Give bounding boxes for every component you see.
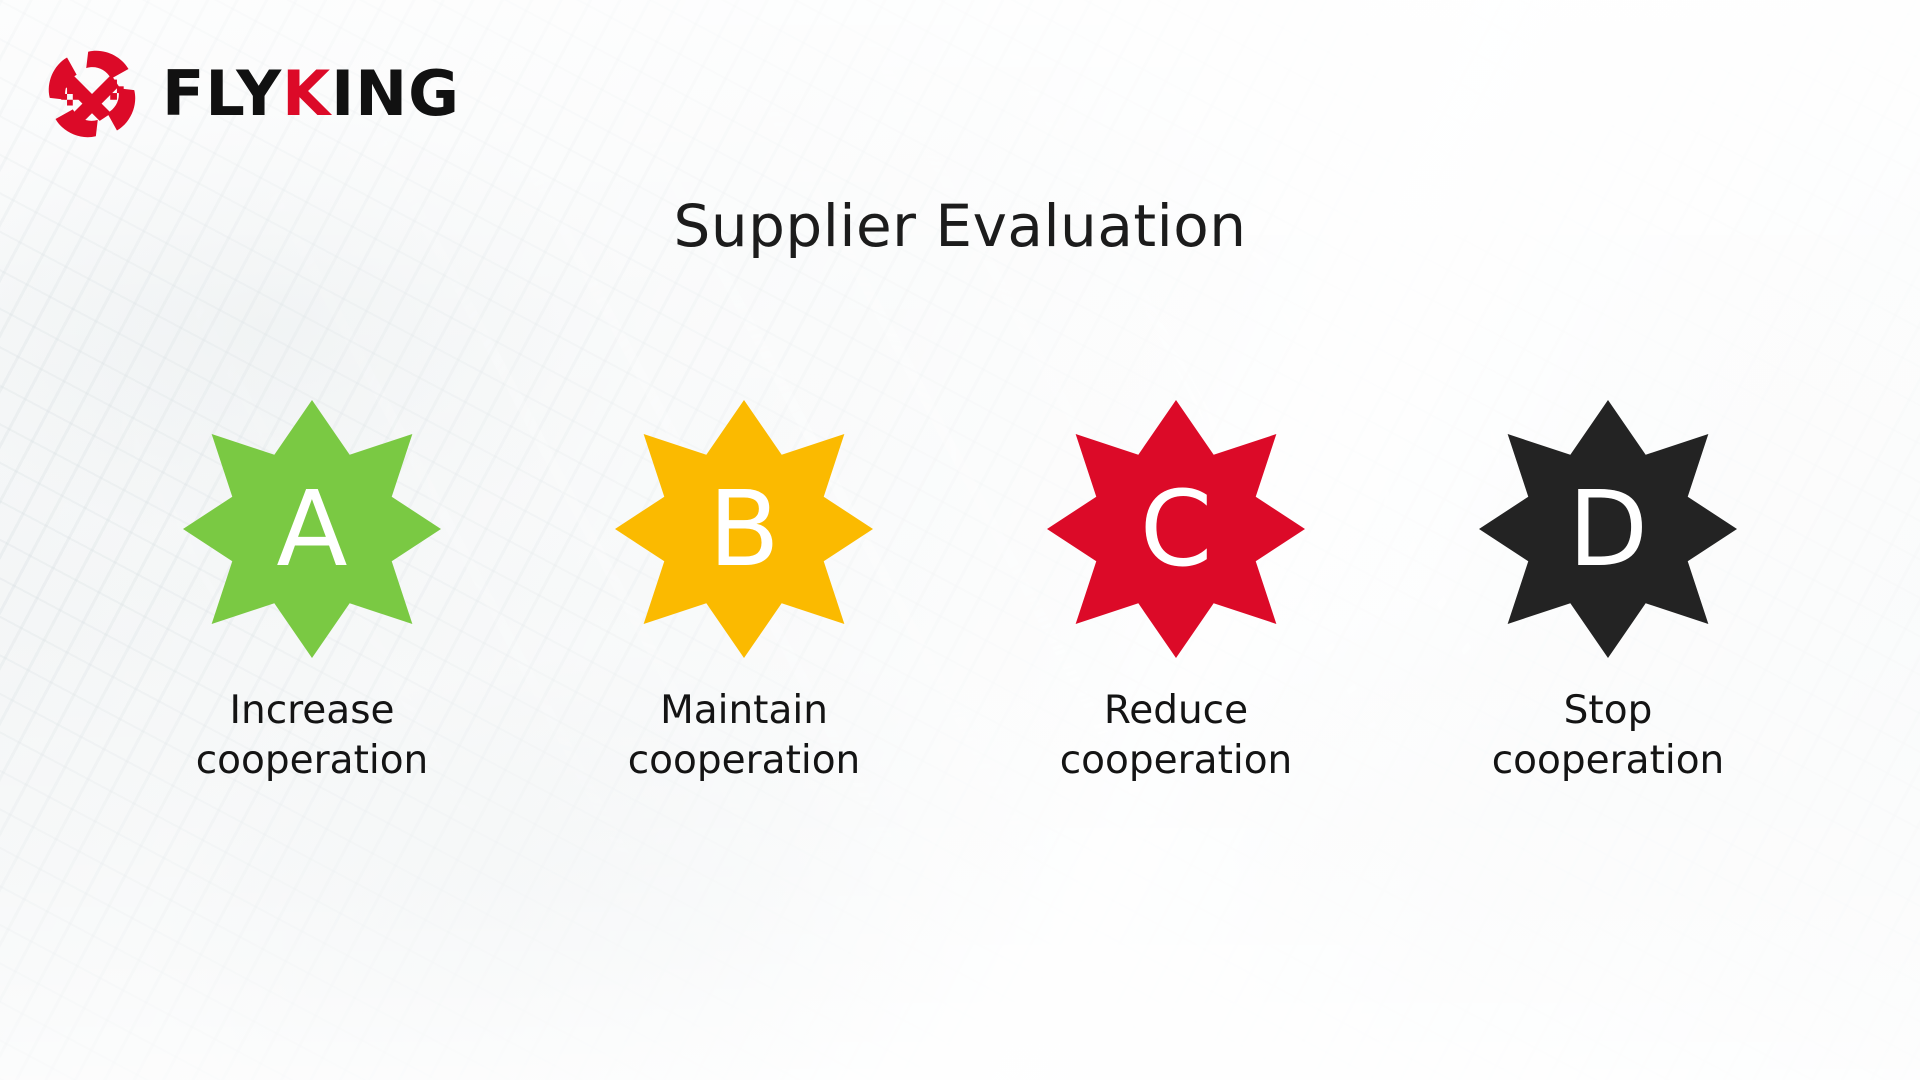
grade-caption-b-line1: Maintain [628,686,861,736]
grade-caption-d-line1: Stop [1492,686,1725,736]
grade-letter-d: D [1568,477,1648,581]
flyking-mark-icon [44,46,140,142]
grade-badge-a[interactable]: A [183,400,441,658]
grade-caption-b: Maintain cooperation [628,686,861,786]
slide-canvas: FLYKING Supplier Evaluation A Increase c… [0,0,1920,1080]
grade-letter-b: B [708,477,779,581]
brand-wordmark: FLYKING [162,63,460,125]
grade-card-b[interactable]: B Maintain cooperation [528,400,960,786]
grade-caption-a-line2: cooperation [196,736,429,786]
wordmark-part-k: K [282,57,331,130]
grade-caption-a-line1: Increase [196,686,429,736]
supplier-grade-row: A Increase cooperation B Maintain cooper… [96,400,1824,786]
grade-badge-b[interactable]: B [615,400,873,658]
grade-caption-d: Stop cooperation [1492,686,1725,786]
grade-caption-c-line2: cooperation [1060,736,1293,786]
grade-caption-b-line2: cooperation [628,736,861,786]
grade-caption-c: Reduce cooperation [1060,686,1293,786]
grade-card-d[interactable]: D Stop cooperation [1392,400,1824,786]
page-title: Supplier Evaluation [0,192,1920,260]
grade-card-a[interactable]: A Increase cooperation [96,400,528,786]
wordmark-part-fly: FLY [162,57,282,130]
grade-badge-d[interactable]: D [1479,400,1737,658]
grade-card-c[interactable]: C Reduce cooperation [960,400,1392,786]
wordmark-part-ing: ING [331,57,460,130]
grade-letter-c: C [1140,477,1213,581]
grade-caption-a: Increase cooperation [196,686,429,786]
grade-caption-c-line1: Reduce [1060,686,1293,736]
brand-logo: FLYKING [44,46,460,142]
grade-letter-a: A [276,477,347,581]
grade-caption-d-line2: cooperation [1492,736,1725,786]
grade-badge-c[interactable]: C [1047,400,1305,658]
